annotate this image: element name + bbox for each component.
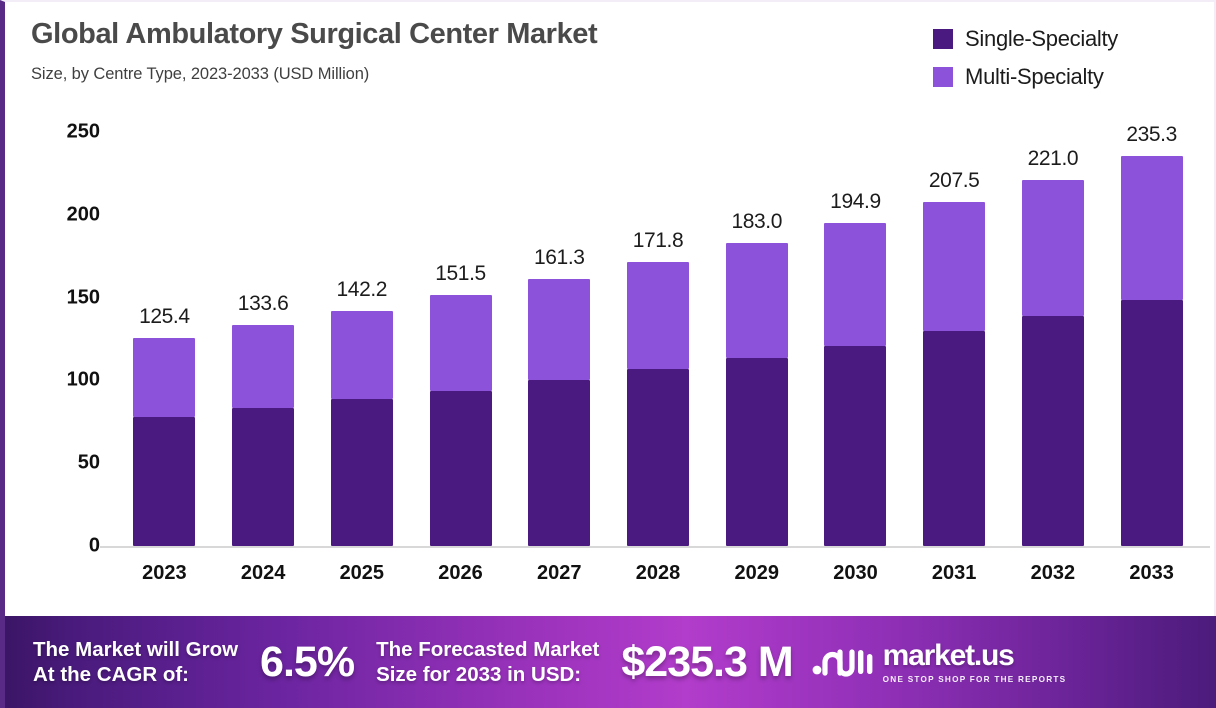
cagr-label: The Market will Grow At the CAGR of:	[33, 637, 238, 687]
bar-segment-multi-specialty	[232, 325, 294, 408]
legend-swatch-multi-specialty	[933, 67, 953, 87]
bar-group: 161.3	[528, 279, 590, 546]
legend-item-single-specialty: Single-Specialty	[933, 26, 1118, 52]
bar-segment-single-specialty	[627, 369, 689, 546]
brand-tagline: ONE STOP SHOP FOR THE REPORTS	[883, 675, 1067, 684]
bar-segment-single-specialty	[1022, 316, 1084, 546]
cagr-label-line1: The Market will Grow	[33, 637, 238, 662]
brand-text: market.us ONE STOP SHOP FOR THE REPORTS	[883, 641, 1067, 684]
bar-segment-single-specialty	[331, 399, 393, 546]
legend-label-single-specialty: Single-Specialty	[965, 26, 1118, 52]
bar-segment-multi-specialty	[331, 311, 393, 399]
bar-segment-multi-specialty	[726, 243, 788, 358]
legend-label-multi-specialty: Multi-Specialty	[965, 64, 1104, 90]
y-axis-tick: 200	[20, 203, 100, 226]
forecast-label-line1: The Forecasted Market	[376, 637, 599, 662]
bar-group: 142.2	[331, 311, 393, 546]
bar-segment-single-specialty	[923, 331, 985, 546]
brand-name: market.us	[883, 639, 1014, 672]
bar-segment-multi-specialty	[1022, 180, 1084, 316]
chart-subtitle: Size, by Centre Type, 2023-2033 (USD Mil…	[31, 65, 597, 84]
y-axis-tick: 50	[20, 452, 100, 475]
bar-group: 125.4	[133, 338, 195, 546]
bar-segment-multi-specialty	[528, 279, 590, 380]
bar-group: 207.5	[923, 202, 985, 546]
bar-group: 183.0	[726, 243, 788, 546]
bar-total-label: 194.9	[765, 190, 945, 214]
cagr-value: 6.5%	[260, 638, 354, 687]
bar-group: 235.3	[1121, 156, 1183, 546]
title-block: Global Ambulatory Surgical Center Market…	[31, 18, 597, 84]
forecast-label: The Forecasted Market Size for 2033 in U…	[376, 637, 599, 687]
plot-area: 050100150200250 125.4133.6142.2151.5161.…	[5, 112, 1216, 612]
footer-banner: The Market will Grow At the CAGR of: 6.5…	[5, 616, 1216, 708]
cagr-label-line2: At the CAGR of:	[33, 662, 238, 687]
bar-segment-single-specialty	[528, 380, 590, 546]
x-axis-line	[100, 546, 1210, 548]
bar-segment-single-specialty	[1121, 300, 1183, 546]
market-us-logo-icon	[811, 640, 873, 685]
bar-total-label: 207.5	[864, 169, 1044, 193]
footer-content: The Market will Grow At the CAGR of: 6.5…	[5, 637, 1216, 687]
legend-swatch-single-specialty	[933, 29, 953, 49]
bar-segment-multi-specialty	[430, 295, 492, 390]
bar-segment-multi-specialty	[627, 262, 689, 370]
bar-segment-multi-specialty	[824, 223, 886, 345]
bar-group: 151.5	[430, 295, 492, 546]
bar-group: 194.9	[824, 223, 886, 546]
chart-legend: Single-Specialty Multi-Specialty	[933, 26, 1118, 102]
legend-item-multi-specialty: Multi-Specialty	[933, 64, 1118, 90]
bar-group: 221.0	[1022, 180, 1084, 546]
y-axis-tick: 100	[20, 369, 100, 392]
bar-group: 133.6	[232, 325, 294, 546]
bar-segment-multi-specialty	[1121, 156, 1183, 300]
bar-segment-single-specialty	[133, 417, 195, 546]
bar-segment-multi-specialty	[133, 338, 195, 417]
bar-group: 171.8	[627, 262, 689, 547]
bar-total-label: 235.3	[1062, 123, 1216, 147]
y-axis-tick: 0	[20, 535, 100, 558]
forecast-label-line2: Size for 2033 in USD:	[376, 662, 599, 687]
bar-segment-single-specialty	[430, 391, 492, 546]
chart-header: Global Ambulatory Surgical Center Market…	[5, 2, 1214, 112]
chart-page: Global Ambulatory Surgical Center Market…	[0, 0, 1216, 708]
bar-segment-multi-specialty	[923, 202, 985, 331]
brand-logo[interactable]: market.us ONE STOP SHOP FOR THE REPORTS	[811, 640, 1067, 685]
bar-segment-single-specialty	[824, 346, 886, 546]
chart-title: Global Ambulatory Surgical Center Market	[31, 18, 597, 51]
bar-segment-single-specialty	[726, 358, 788, 546]
y-axis-tick: 250	[20, 121, 100, 144]
x-axis-tick: 2033	[1062, 562, 1216, 585]
bar-total-label: 221.0	[963, 147, 1143, 171]
bar-segment-single-specialty	[232, 408, 294, 546]
forecast-value: $235.3 M	[621, 638, 792, 687]
